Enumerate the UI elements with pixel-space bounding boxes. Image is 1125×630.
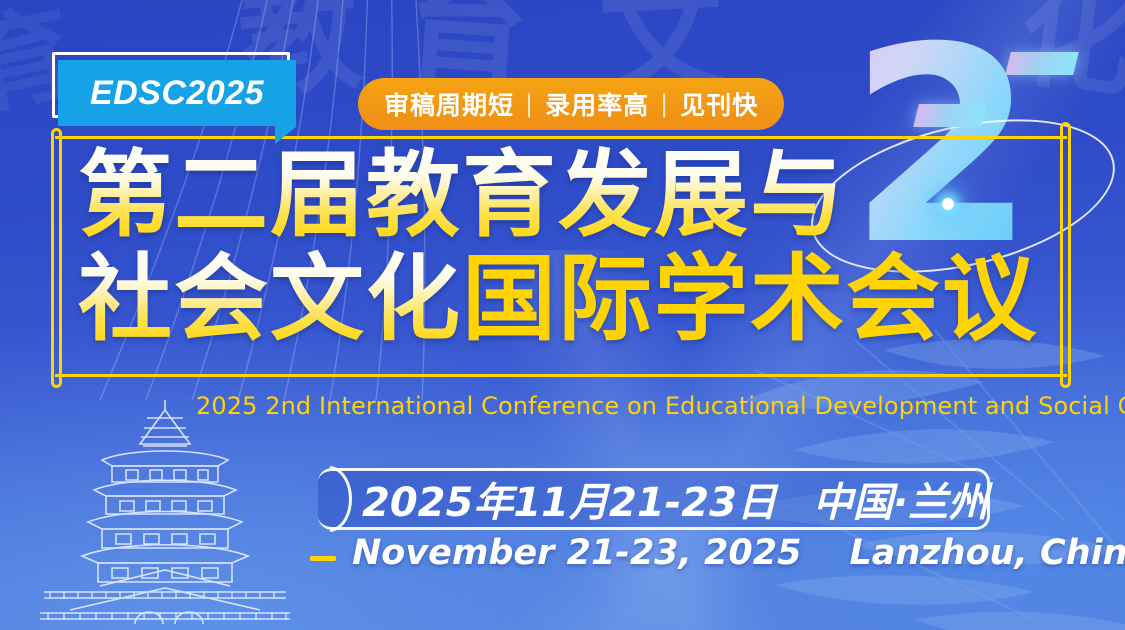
title-line-2-gradient-part: 社会文化	[78, 245, 462, 354]
frame-line-bottom	[55, 374, 1067, 377]
english-subtitle: 2025 2nd International Conference on Edu…	[196, 392, 1125, 420]
yellow-dash-icon	[310, 556, 336, 561]
highlight-pill: 审稿周期短 | 录用率高 | 见刊快	[358, 78, 784, 130]
title-line-1: 第二届教育发展与	[78, 144, 1068, 248]
frame-line-top	[55, 136, 1067, 139]
highlight-separator: |	[649, 90, 680, 118]
location-cn-text: 中国·兰州	[813, 470, 988, 528]
accent-bar-icon	[1005, 52, 1079, 75]
title-line-2-solid-part: 国际学术会议	[462, 245, 1038, 354]
title-line-2: 社会文化国际学术会议	[78, 248, 1068, 352]
conference-code-label: EDSC2025	[58, 60, 296, 126]
date-en-text: November 21-23, 2025	[352, 533, 801, 573]
conference-banner: 教 育 文 化 育	[0, 0, 1125, 630]
highlight-separator: |	[514, 90, 545, 118]
date-cn-text: 2025年11月21-23日	[362, 470, 777, 528]
frame-line-left	[51, 128, 62, 388]
location-en-text: Lanzhou, China	[849, 533, 1125, 573]
accent-bar-icon	[913, 104, 987, 127]
highlight-item-3: 见刊快	[680, 86, 758, 122]
pagoda-illustration-icon	[40, 398, 290, 630]
main-title: 第二届教育发展与 社会文化国际学术会议	[78, 144, 1068, 352]
date-location-en: November 21-23, 2025 Lanzhou, China	[352, 533, 1125, 573]
highlight-item-1: 审稿周期短	[384, 86, 514, 122]
highlight-item-2: 录用率高	[545, 86, 649, 122]
date-location-cn: 2025年11月21-23日 中国·兰州	[362, 470, 988, 528]
